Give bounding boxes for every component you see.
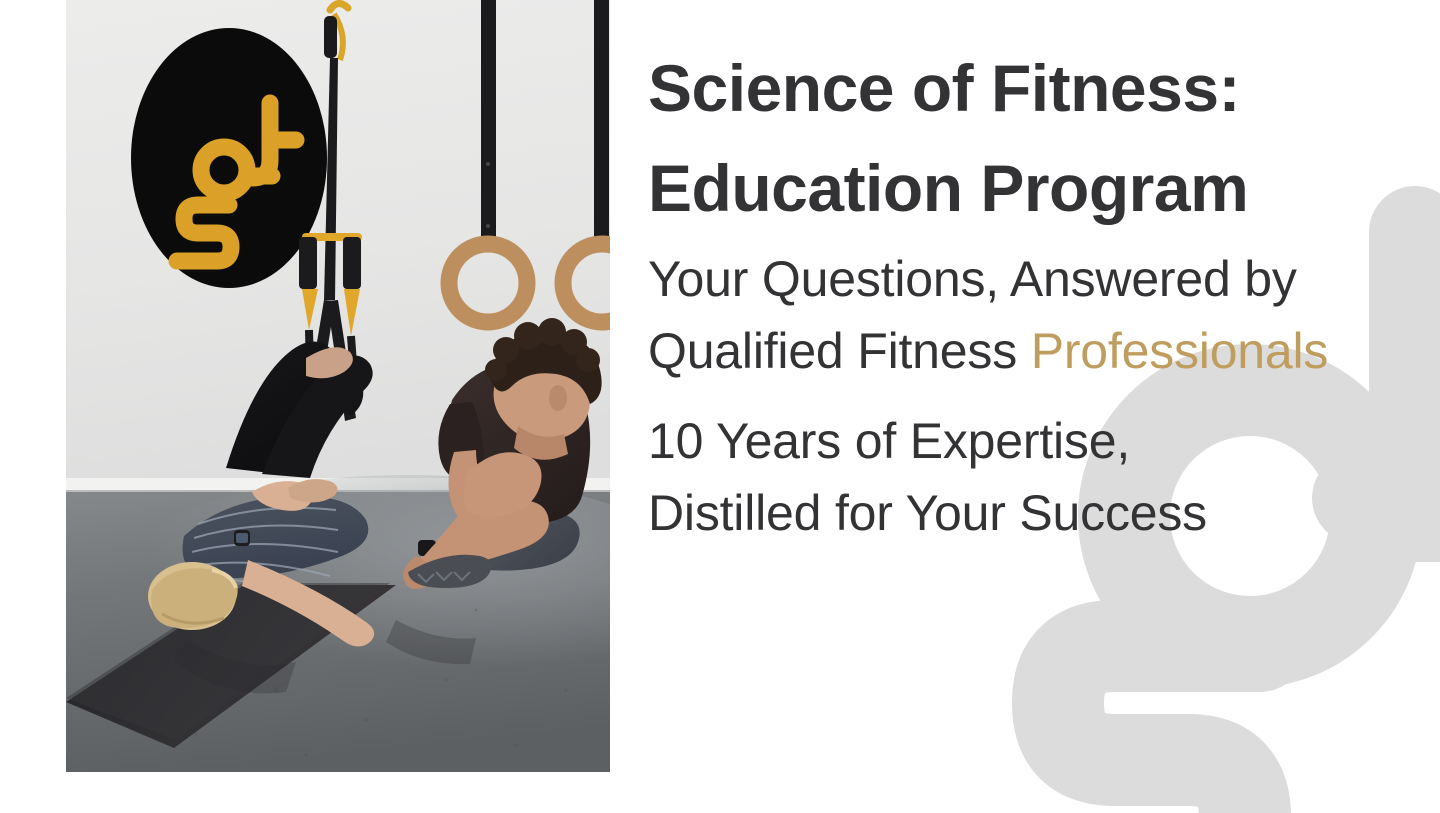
subtitle-accent-word: Professionals <box>1031 323 1329 379</box>
text-content-column: Science of Fitness: Education Program Yo… <box>648 0 1348 813</box>
subtitle: Your Questions, Answered by Qualified Fi… <box>648 243 1348 387</box>
hero-photo <box>66 0 610 772</box>
tagline: 10 Years of Expertise, Distilled for You… <box>648 405 1348 549</box>
page-title: Science of Fitness: Education Program <box>648 38 1338 239</box>
subtitle-line-2-plain: Qualified Fitness <box>648 323 1031 379</box>
subtitle-line-1: Your Questions, Answered by <box>648 251 1297 307</box>
wall-logo <box>131 28 327 288</box>
presentation-slide: Science of Fitness: Education Program Yo… <box>0 0 1440 813</box>
